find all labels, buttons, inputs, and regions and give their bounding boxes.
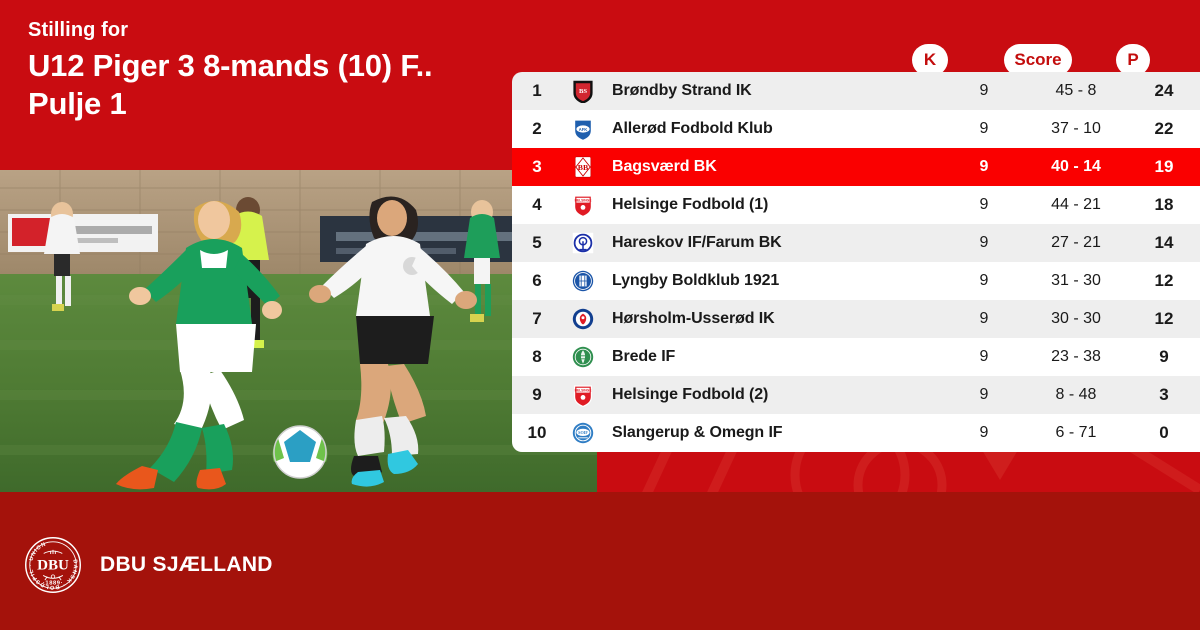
header-eyebrow: Stilling for	[28, 18, 508, 42]
row-team[interactable]: Brede IF	[604, 348, 944, 366]
row-rank: 6	[512, 271, 562, 291]
lyngby-crest	[562, 269, 604, 293]
row-p: 24	[1128, 81, 1200, 101]
row-team[interactable]: Slangerup & Omegn IF	[604, 424, 944, 442]
row-score: 37 - 10	[1024, 120, 1128, 138]
slangerup-crest: SOIF	[562, 421, 604, 445]
table-row[interactable]: 9 HELSINGE Helsinge Fodbold (2)98 - 483	[512, 376, 1200, 414]
row-team[interactable]: Hareskov IF/Farum BK	[604, 234, 944, 252]
table-row[interactable]: 4 HELSINGE Helsinge Fodbold (1)944 - 211…	[512, 186, 1200, 224]
row-team[interactable]: Allerød Fodbold Klub	[604, 120, 944, 138]
row-rank: 10	[512, 423, 562, 443]
hareskov-crest	[562, 231, 604, 255]
row-team[interactable]: Brøndby Strand IK	[604, 82, 944, 100]
footer: DANSK · BOLDSPIL · UNION DBU ·1889· DBU …	[0, 492, 1200, 630]
helsinge-crest: HELSINGE	[562, 193, 604, 217]
row-rank: 3	[512, 157, 562, 177]
table-row[interactable]: 1 BSBrøndby Strand IK945 - 824	[512, 72, 1200, 110]
row-score: 30 - 30	[1024, 310, 1128, 328]
row-score: 40 - 14	[1024, 158, 1128, 176]
row-rank: 9	[512, 385, 562, 405]
row-p: 18	[1128, 195, 1200, 215]
standings-card: Stilling for U12 Piger 3 8-mands (10) F.…	[0, 0, 1200, 630]
svg-text:AFK: AFK	[579, 127, 588, 132]
svg-text:·1889·: ·1889·	[43, 581, 63, 587]
row-k: 9	[944, 386, 1024, 404]
row-rank: 5	[512, 233, 562, 253]
row-p: 22	[1128, 119, 1200, 139]
header: Stilling for U12 Piger 3 8-mands (10) F.…	[28, 18, 508, 123]
row-team[interactable]: Lyngby Boldklub 1921	[604, 272, 944, 290]
row-k: 9	[944, 234, 1024, 252]
svg-text:HELSINGE: HELSINGE	[575, 388, 593, 392]
row-p: 12	[1128, 271, 1200, 291]
helsinge-crest: HELSINGE	[562, 383, 604, 407]
table-row[interactable]: 7 Hørsholm-Usserød IK930 - 3012	[512, 300, 1200, 338]
table-row[interactable]: 3 BBBagsværd BK940 - 1419	[512, 148, 1200, 186]
row-p: 19	[1128, 157, 1200, 177]
row-team[interactable]: Helsinge Fodbold (1)	[604, 196, 944, 214]
row-k: 9	[944, 120, 1024, 138]
row-team[interactable]: Hørsholm-Usserød IK	[604, 310, 944, 328]
page-title: U12 Piger 3 8-mands (10) F.. Pulje 1	[28, 47, 508, 123]
row-score: 45 - 8	[1024, 82, 1128, 100]
row-p: 14	[1128, 233, 1200, 253]
svg-text:DBU: DBU	[37, 558, 69, 574]
svg-text:BB: BB	[578, 163, 588, 172]
row-rank: 1	[512, 81, 562, 101]
row-k: 9	[944, 272, 1024, 290]
svg-text:HELSINGE: HELSINGE	[575, 198, 593, 202]
svg-text:SOIF: SOIF	[578, 430, 588, 435]
row-k: 9	[944, 424, 1024, 442]
row-score: 31 - 30	[1024, 272, 1128, 290]
row-k: 9	[944, 348, 1024, 366]
table-row[interactable]: 5 Hareskov IF/Farum BK927 - 2114	[512, 224, 1200, 262]
brede-crest	[562, 345, 604, 369]
dbu-logo: DANSK · BOLDSPIL · UNION DBU ·1889·	[24, 536, 82, 594]
horsholm-crest	[562, 307, 604, 331]
row-score: 44 - 21	[1024, 196, 1128, 214]
row-k: 9	[944, 196, 1024, 214]
brondby-strand-crest: BS	[562, 79, 604, 103]
row-k: 9	[944, 82, 1024, 100]
row-rank: 2	[512, 119, 562, 139]
row-team[interactable]: Bagsværd BK	[604, 158, 944, 176]
row-rank: 8	[512, 347, 562, 367]
row-rank: 4	[512, 195, 562, 215]
row-score: 6 - 71	[1024, 424, 1128, 442]
table-row[interactable]: 2 AFKAllerød Fodbold Klub937 - 1022	[512, 110, 1200, 148]
standings-table: 1 BSBrøndby Strand IK945 - 8242 AFKAller…	[512, 72, 1200, 452]
table-row[interactable]: 8 Brede IF923 - 389	[512, 338, 1200, 376]
row-p: 0	[1128, 423, 1200, 443]
row-p: 3	[1128, 385, 1200, 405]
row-k: 9	[944, 158, 1024, 176]
table-row[interactable]: 6 Lyngby Boldklub 1921931 - 3012	[512, 262, 1200, 300]
allerod-crest: AFK	[562, 117, 604, 141]
row-score: 23 - 38	[1024, 348, 1128, 366]
row-score: 27 - 21	[1024, 234, 1128, 252]
row-p: 9	[1128, 347, 1200, 367]
bagsvaerd-crest: BB	[562, 155, 604, 179]
row-score: 8 - 48	[1024, 386, 1128, 404]
row-p: 12	[1128, 309, 1200, 329]
footer-label: DBU SJÆLLAND	[100, 553, 273, 577]
table-row[interactable]: 10 SOIF Slangerup & Omegn IF96 - 710	[512, 414, 1200, 452]
svg-text:BS: BS	[579, 88, 587, 95]
row-team[interactable]: Helsinge Fodbold (2)	[604, 386, 944, 404]
row-rank: 7	[512, 309, 562, 329]
row-k: 9	[944, 310, 1024, 328]
match-photo	[0, 170, 597, 492]
